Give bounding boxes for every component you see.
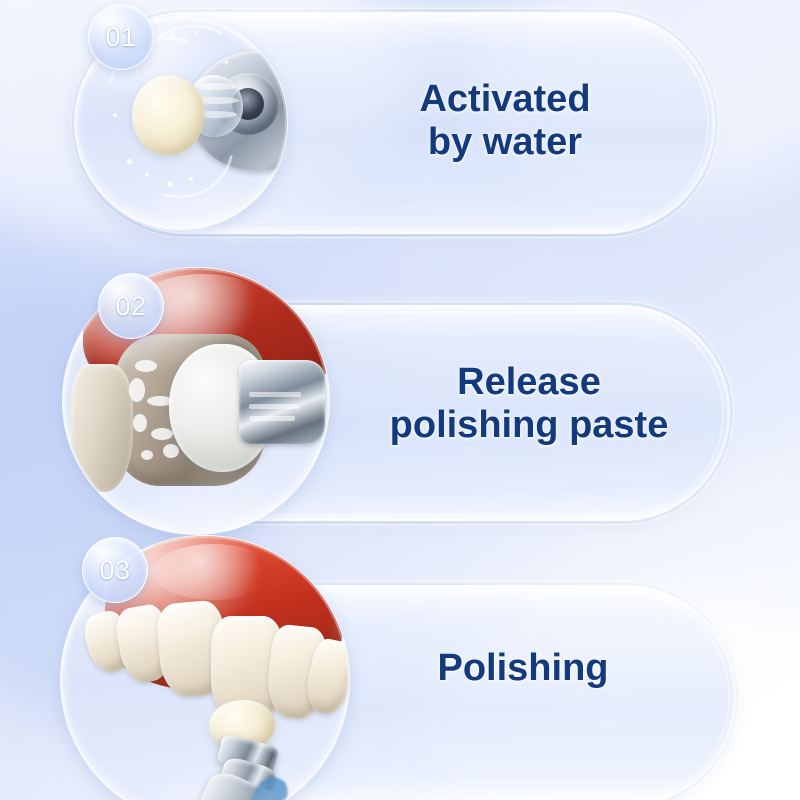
- water-droplet: [127, 159, 132, 164]
- paste-speckle: [135, 360, 157, 372]
- water-droplet: [145, 173, 149, 177]
- gum-highlight: [153, 544, 273, 600]
- paste-speckle: [129, 378, 145, 402]
- paste-speckle: [163, 444, 179, 458]
- paste-speckle: [133, 414, 147, 432]
- adjacent-tooth: [71, 364, 133, 492]
- step-badge-02: 02: [98, 273, 164, 339]
- paste-speckle: [141, 450, 153, 460]
- step-badge-01: 01: [88, 4, 154, 70]
- step-number-label: 02: [115, 291, 146, 322]
- step-card-3[interactable]: 03 Polishing: [88, 585, 736, 800]
- water-droplet: [189, 177, 193, 181]
- cup-shank: [239, 360, 325, 444]
- step-caption-2: Release polishing paste: [336, 361, 722, 448]
- water-droplet: [225, 61, 228, 64]
- cup-shank-band: [249, 416, 295, 421]
- step-number-label: 03: [99, 555, 130, 586]
- infographic-stage: 01 Activated by water: [0, 0, 800, 800]
- cup-shank-band: [249, 404, 299, 409]
- step-caption-3: Polishing: [338, 647, 708, 690]
- water-droplet: [171, 35, 175, 39]
- step-card-1[interactable]: 01 Activated by water: [75, 12, 715, 234]
- paste-speckle: [151, 428, 173, 440]
- step-caption-1: Activated by water: [325, 78, 685, 165]
- cup-shank-band: [249, 392, 301, 397]
- step-card-2[interactable]: 02 Release polishing paste: [88, 305, 730, 521]
- water-droplet: [167, 181, 173, 187]
- step-badge-03: 03: [82, 537, 148, 603]
- water-droplet: [113, 113, 117, 117]
- water-droplet: [195, 31, 198, 34]
- step-number-label: 01: [105, 22, 136, 53]
